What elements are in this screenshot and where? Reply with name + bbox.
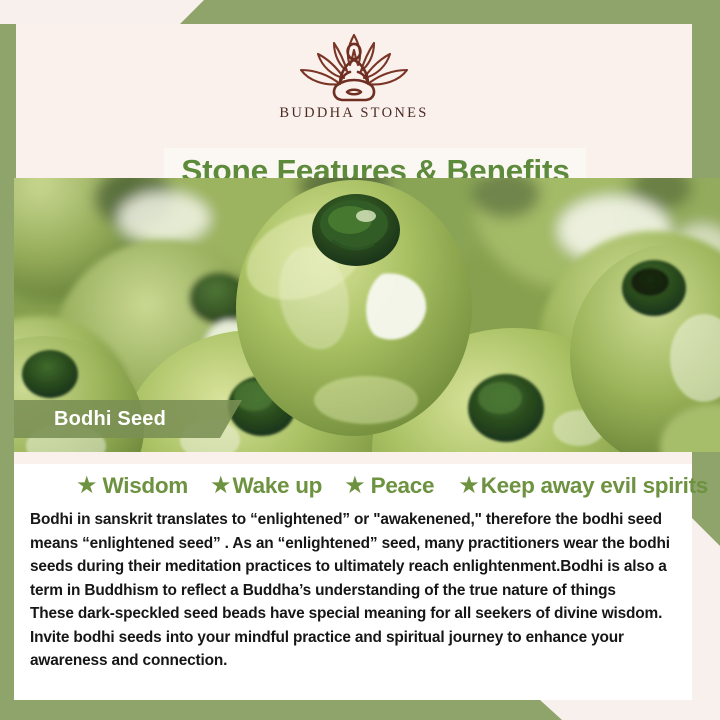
star-icon: ★ [344, 474, 366, 498]
bottom-green-band [0, 700, 720, 720]
benefits-list: ★ Wisdom ★ Wake up ★ Peace ★ Keep away e… [14, 468, 692, 504]
benefit-label: Keep away evil spirits [481, 473, 708, 499]
top-green-band [0, 0, 720, 24]
star-icon: ★ [76, 474, 98, 498]
brand-name: BUDDHA STONES [279, 105, 428, 122]
star-icon: ★ [458, 474, 480, 498]
photo-caption-banner: Bodhi Seed [14, 400, 242, 438]
header: BUDDHA STONES Stone Features & Benefits [16, 24, 692, 178]
benefit-item: ★ Wisdom [76, 473, 188, 499]
body-paragraph-1: Bodhi in sanskrit translates to “enlight… [30, 508, 682, 602]
infographic-page: BUDDHA STONES Stone Features & Benefits [0, 0, 720, 720]
benefit-label: Wake up [233, 473, 323, 499]
star-icon: ★ [210, 474, 232, 498]
lotus-meditation-icon [288, 30, 420, 104]
brand-logo: BUDDHA STONES [16, 30, 692, 128]
benefit-item: ★ Wake up [210, 473, 322, 499]
benefit-item: ★ Peace [344, 473, 434, 499]
body-copy: Bodhi in sanskrit translates to “enlight… [30, 508, 682, 673]
body-paragraph-2: These dark-speckled seed beads have spec… [30, 602, 682, 673]
content-panel: ★ Wisdom ★ Wake up ★ Peace ★ Keep away e… [14, 452, 692, 700]
benefit-label: Peace [371, 473, 435, 499]
benefit-label: Wisdom [103, 473, 189, 499]
photo-caption-text: Bodhi Seed [54, 408, 166, 431]
panel-top-strip [14, 452, 692, 464]
benefit-item: ★ Keep away evil spirits [458, 473, 708, 499]
